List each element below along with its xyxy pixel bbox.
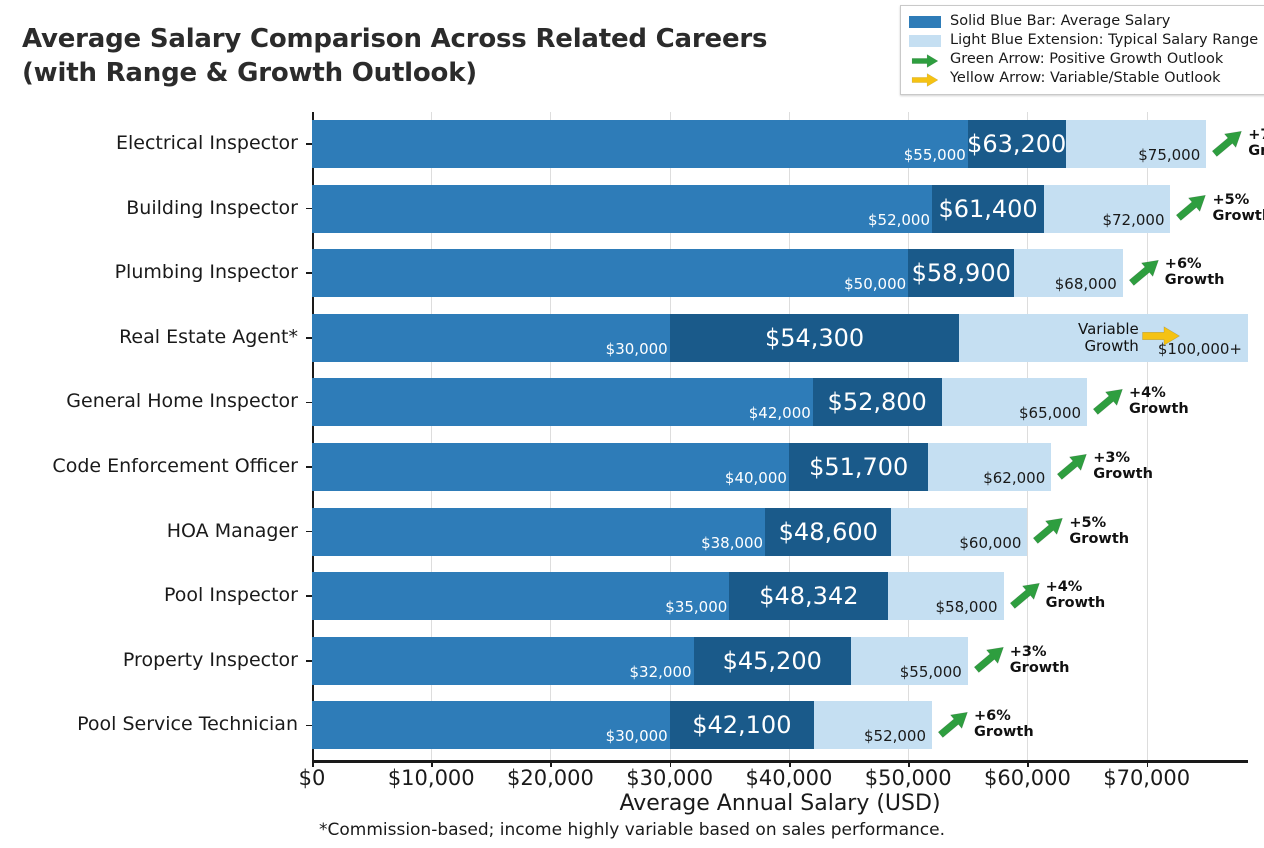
bar-segment-below-min[interactable]: [312, 249, 908, 297]
range-min-label: $30,000: [606, 729, 668, 744]
growth-outlook-text: +7%Growth: [1248, 128, 1264, 160]
range-min-label: $38,000: [701, 536, 763, 551]
x-axis-tick-label: $30,000: [626, 768, 713, 789]
bar-row[interactable]: $30,000$54,300$100,000+VariableGrowth: [0, 314, 1264, 362]
range-max-label: $60,000: [959, 536, 1021, 551]
legend-label: Yellow Arrow: Variable/Stable Outlook: [950, 71, 1221, 86]
chart-title-line1: Average Salary Comparison Across Related…: [22, 24, 767, 54]
range-min-label: $32,000: [630, 665, 692, 680]
bar-row[interactable]: $32,000$45,200$55,000+3%Growth: [0, 637, 1264, 685]
range-min-label: $35,000: [665, 600, 727, 615]
x-axis-tick-label: $0: [299, 768, 326, 789]
x-axis-tick-label: $40,000: [746, 768, 833, 789]
range-min-label: $52,000: [868, 213, 930, 228]
average-salary-label: $61,400: [938, 197, 1037, 221]
bar-row[interactable]: $40,000$51,700$62,000+3%Growth: [0, 443, 1264, 491]
bar-segment-below-min[interactable]: [312, 443, 789, 491]
growth-outlook-annotation: +3%Growth: [972, 637, 1070, 685]
green-arrow-icon: [1210, 133, 1246, 156]
growth-outlook-annotation: +6%Growth: [936, 701, 1034, 749]
legend-swatch: [909, 16, 941, 28]
green-arrow-icon: [936, 714, 972, 737]
chart-title-line2: (with Range & Growth Outlook): [22, 56, 822, 90]
chart-footnote: *Commission-based; income highly variabl…: [0, 822, 1264, 839]
range-min-label: $40,000: [725, 471, 787, 486]
x-axis-tick-label: $50,000: [865, 768, 952, 789]
green-arrow-icon: [1091, 391, 1127, 414]
range-min-label: $55,000: [904, 148, 966, 163]
range-max-label: $55,000: [900, 665, 962, 680]
chart-canvas: Average Salary Comparison Across Related…: [0, 0, 1264, 848]
legend-item: Light Blue Extension: Typical Salary Ran…: [909, 31, 1258, 50]
growth-outlook-text: +6%Growth: [1165, 257, 1225, 289]
range-max-label: $68,000: [1055, 277, 1117, 292]
growth-outlook-text: +6%Growth: [974, 709, 1034, 741]
green-arrow-icon: [1008, 585, 1044, 608]
range-min-label: $30,000: [606, 342, 668, 357]
yellow-arrow-icon: [1141, 326, 1181, 350]
growth-outlook-annotation: +4%Growth: [1091, 378, 1189, 426]
average-salary-label: $52,800: [828, 390, 927, 414]
range-max-label: $75,000: [1138, 148, 1200, 163]
x-axis-tick-label: $20,000: [507, 768, 594, 789]
average-salary-label: $51,700: [809, 455, 908, 479]
growth-outlook-text: +3%Growth: [1010, 645, 1070, 677]
legend-label: Green Arrow: Positive Growth Outlook: [950, 52, 1223, 67]
growth-outlook-text: +4%Growth: [1046, 580, 1106, 612]
average-salary-label: $45,200: [723, 649, 822, 673]
green-arrow-icon: [972, 649, 1008, 672]
growth-outlook-text: +5%Growth: [1212, 193, 1264, 225]
legend-item: Green Arrow: Positive Growth Outlook: [909, 50, 1258, 69]
legend-label: Solid Blue Bar: Average Salary: [950, 14, 1170, 29]
legend-swatch: [909, 35, 941, 47]
growth-outlook-annotation: +3%Growth: [1055, 443, 1153, 491]
bar-row[interactable]: $30,000$42,100$52,000+6%Growth: [0, 701, 1264, 749]
green-arrow-icon: [1055, 456, 1091, 479]
green-arrow-icon: [1174, 197, 1210, 220]
legend-label: Light Blue Extension: Typical Salary Ran…: [950, 33, 1258, 48]
bar-row[interactable]: $55,000$63,200$75,000+7%Growth: [0, 120, 1264, 168]
average-salary-label: $48,342: [759, 584, 858, 608]
yellow-arrow-icon: [909, 72, 941, 86]
bar-segment-below-min[interactable]: [312, 120, 968, 168]
growth-outlook-text: +4%Growth: [1129, 386, 1189, 418]
bar-segment-below-min[interactable]: [312, 508, 765, 556]
bar-row[interactable]: $38,000$48,600$60,000+5%Growth: [0, 508, 1264, 556]
bar-row[interactable]: $52,000$61,400$72,000+5%Growth: [0, 185, 1264, 233]
x-axis-tick-label: $60,000: [984, 768, 1071, 789]
bar-row[interactable]: $35,000$48,342$58,000+4%Growth: [0, 572, 1264, 620]
average-salary-label: $48,600: [779, 520, 878, 544]
average-salary-label: $58,900: [912, 261, 1011, 285]
range-max-label: $58,000: [936, 600, 998, 615]
growth-outlook-annotation: +4%Growth: [1008, 572, 1106, 620]
growth-outlook-text: +5%Growth: [1069, 516, 1129, 548]
growth-outlook-annotation: +6%Growth: [1127, 249, 1225, 297]
growth-outlook-text: VariableGrowth: [1078, 321, 1139, 354]
green-arrow-icon: [1031, 520, 1067, 543]
x-axis-tick-label: $70,000: [1103, 768, 1190, 789]
green-arrow-icon: [909, 53, 941, 67]
growth-outlook-annotation: +7%Growth: [1210, 120, 1264, 168]
average-salary-label: $42,100: [692, 713, 791, 737]
range-max-label: $72,000: [1102, 213, 1164, 228]
chart-legend: Solid Blue Bar: Average SalaryLight Blue…: [900, 5, 1264, 95]
x-axis-line: [312, 760, 1248, 763]
growth-outlook-text: +3%Growth: [1093, 451, 1153, 483]
x-axis-tick-label: $10,000: [388, 768, 475, 789]
chart-title: Average Salary Comparison Across Related…: [22, 22, 822, 91]
bar-segment-below-min[interactable]: [312, 378, 813, 426]
x-axis-title: Average Annual Salary (USD): [312, 793, 1248, 815]
range-max-label: $62,000: [983, 471, 1045, 486]
average-salary-label: $54,300: [765, 326, 864, 350]
bar-segment-below-min[interactable]: [312, 185, 932, 233]
growth-outlook-annotation: +5%Growth: [1031, 508, 1129, 556]
average-salary-label: $63,200: [967, 132, 1066, 156]
range-min-label: $50,000: [844, 277, 906, 292]
growth-outlook-annotation: +5%Growth: [1174, 185, 1264, 233]
growth-outlook-annotation: VariableGrowth: [1078, 314, 1181, 362]
green-arrow-icon: [1127, 262, 1163, 285]
legend-item: Yellow Arrow: Variable/Stable Outlook: [909, 69, 1258, 88]
bar-row[interactable]: $50,000$58,900$68,000+6%Growth: [0, 249, 1264, 297]
range-max-label: $52,000: [864, 729, 926, 744]
legend-item: Solid Blue Bar: Average Salary: [909, 12, 1258, 31]
range-max-label: $65,000: [1019, 406, 1081, 421]
bar-row[interactable]: $42,000$52,800$65,000+4%Growth: [0, 378, 1264, 426]
range-min-label: $42,000: [749, 406, 811, 421]
